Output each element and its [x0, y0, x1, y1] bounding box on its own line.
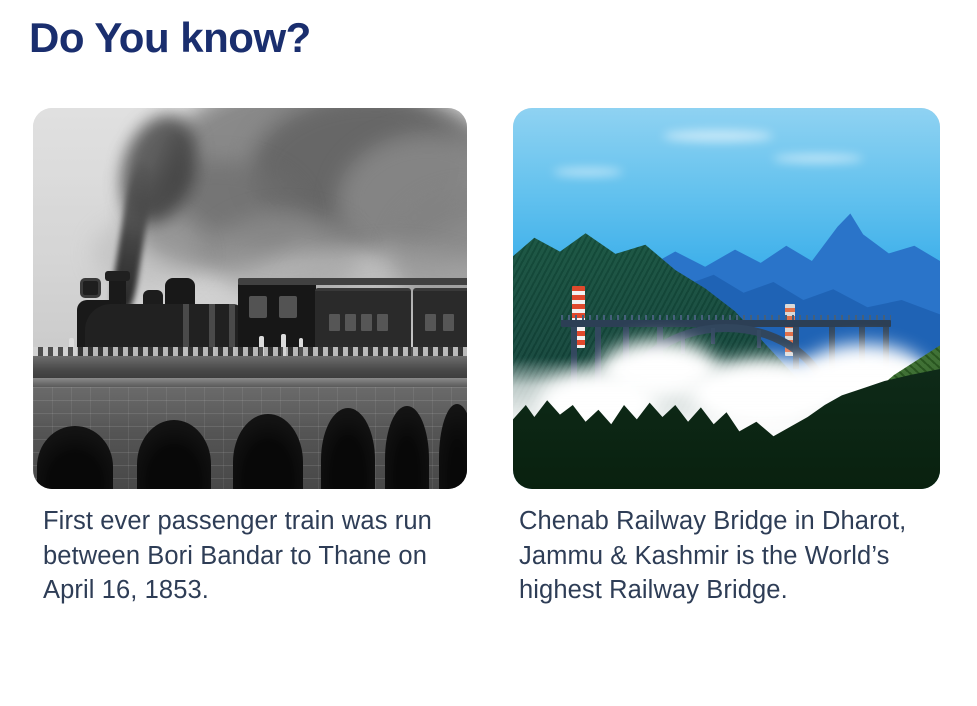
carriage-window: [443, 314, 454, 331]
cloud-wisp: [663, 130, 773, 142]
arch-strut: [757, 330, 761, 348]
carriage-window: [345, 314, 356, 331]
train-photo: [33, 108, 467, 489]
arch-strut: [711, 328, 715, 344]
card-chenab-railway-bridge: Chenab Railway Bridge in Dharot, Jammu &…: [513, 108, 940, 489]
carriage-window: [377, 314, 388, 331]
caption-first-passenger-train: First ever passenger train was run betwe…: [43, 504, 473, 608]
carriage-window: [425, 314, 436, 331]
slide-root: Do You know?: [0, 0, 977, 706]
cab-window: [249, 296, 267, 318]
cloud-wisp: [553, 168, 623, 176]
viaduct-cornice: [33, 378, 467, 387]
cab-window: [279, 296, 297, 318]
cloud-wisp: [773, 154, 863, 163]
page-title: Do You know?: [29, 14, 311, 61]
chenab-bridge-photo: [513, 108, 940, 489]
carriage-window: [361, 314, 372, 331]
caption-chenab-railway-bridge: Chenab Railway Bridge in Dharot, Jammu &…: [519, 504, 951, 608]
carriage-roofline: [238, 278, 467, 285]
card-first-passenger-train: First ever passenger train was run betwe…: [33, 108, 467, 489]
carriage-window: [329, 314, 340, 331]
locomotive-headlamp: [80, 278, 101, 298]
